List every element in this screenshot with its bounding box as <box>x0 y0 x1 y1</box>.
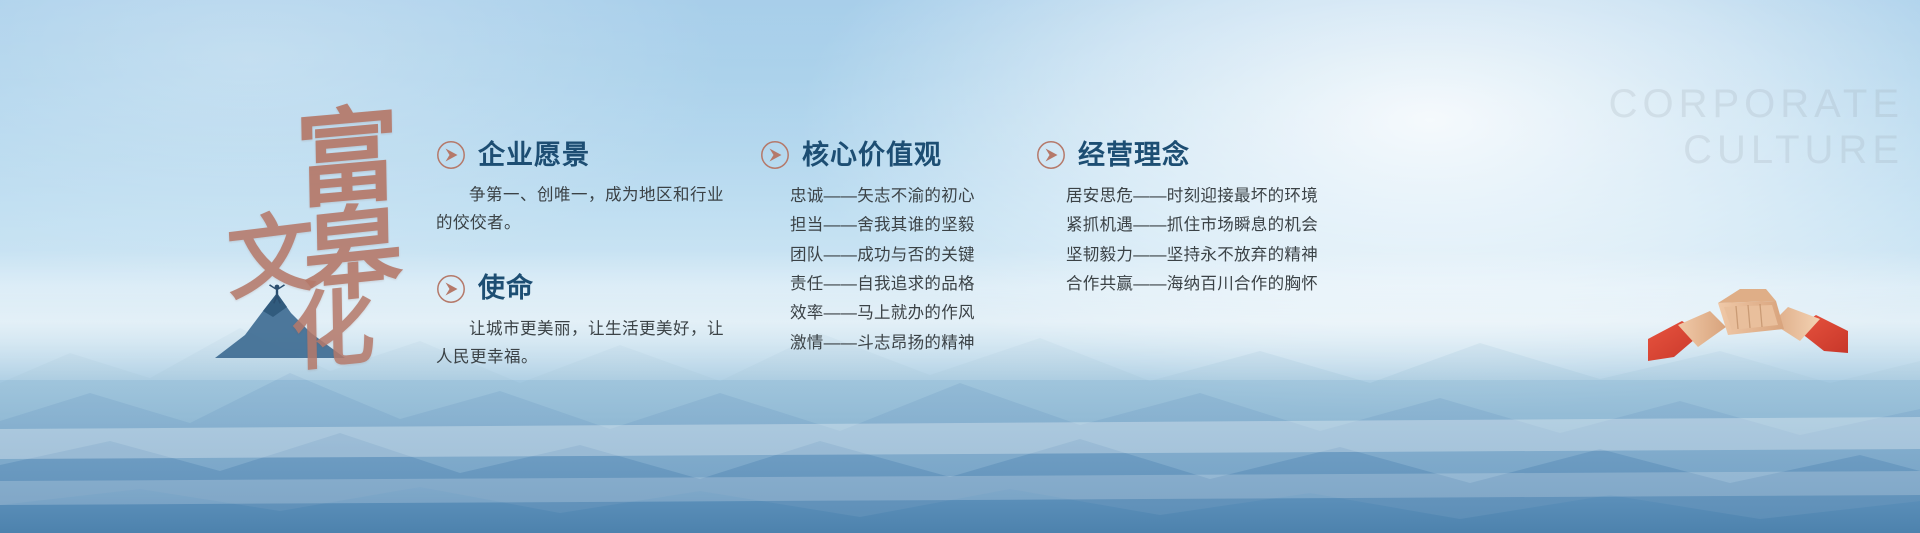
heading-corporate-vision: 企业愿景 <box>436 140 736 170</box>
list-item: 担当——舍我其谁的坚毅 <box>790 211 1030 240</box>
calligraphy-char-4: 化 <box>290 283 375 376</box>
section-title: 企业愿景 <box>478 142 590 169</box>
list-item: 居安思危——时刻迎接最坏的环境 <box>1066 182 1336 211</box>
section-corporate-vision: 企业愿景 争第一、创唯一，成为地区和行业的佼佼者。 <box>436 140 736 238</box>
circled-arrow-icon <box>760 140 790 170</box>
heading-mission: 使命 <box>436 274 736 304</box>
list-item: 责任——自我追求的品格 <box>790 270 1030 299</box>
section-title: 经营理念 <box>1078 142 1190 169</box>
corporate-culture-banner: CORPORATE CULTURE 富 皋 文 化 企业愿景 争第一、创唯一，成… <box>0 0 1920 533</box>
core-values-list: 忠诚——矢志不渝的初心 担当——舍我其谁的坚毅 团队——成功与否的关键 责任——… <box>760 182 1030 358</box>
column-business-philosophy: 经营理念 居安思危——时刻迎接最坏的环境 紧抓机遇——抓住市场瞬息的机会 坚韧毅… <box>1036 140 1336 299</box>
column-vision: 企业愿景 争第一、创唯一，成为地区和行业的佼佼者。 使命 让城市更美丽，让生活更… <box>436 140 736 372</box>
calligraphy-char-3: 文 <box>225 207 317 306</box>
clasped-hands-photo <box>1648 281 1848 371</box>
circled-arrow-icon <box>1036 140 1066 170</box>
section-title: 使命 <box>478 275 534 302</box>
calligraphy-char-2: 皋 <box>302 199 403 310</box>
business-philosophy-list: 居安思危——时刻迎接最坏的环境 紧抓机遇——抓住市场瞬息的机会 坚韧毅力——坚持… <box>1036 182 1336 299</box>
section-paragraph: 让城市更美丽，让生活更美好，让人民更幸福。 <box>436 315 736 372</box>
corporate-culture-watermark: CORPORATE CULTURE <box>1609 84 1904 170</box>
section-core-values: 核心价值观 忠诚——矢志不渝的初心 担当——舍我其谁的坚毅 团队——成功与否的关… <box>760 140 1030 358</box>
list-item: 坚韧毅力——坚持永不放弃的精神 <box>1066 241 1336 270</box>
column-core-values: 核心价值观 忠诚——矢志不渝的初心 担当——舍我其谁的坚毅 团队——成功与否的关… <box>760 140 1030 358</box>
list-item: 忠诚——矢志不渝的初心 <box>790 182 1030 211</box>
circled-arrow-icon <box>436 140 466 170</box>
watermark-line-2: CULTURE <box>1609 130 1904 170</box>
heading-business-philosophy: 经营理念 <box>1036 140 1336 170</box>
watermark-line-1: CORPORATE <box>1609 84 1904 124</box>
list-item: 合作共赢——海纳百川合作的胸怀 <box>1066 270 1336 299</box>
calligraphy-char-1: 富 <box>294 101 399 214</box>
list-item: 激情——斗志昂扬的精神 <box>790 329 1030 358</box>
section-title: 核心价值观 <box>802 142 942 169</box>
list-item: 紧抓机遇——抓住市场瞬息的机会 <box>1066 211 1336 240</box>
circled-arrow-icon <box>436 274 466 304</box>
list-item: 团队——成功与否的关键 <box>790 241 1030 270</box>
section-mission: 使命 让城市更美丽，让生活更美好，让人民更幸福。 <box>436 274 736 372</box>
section-business-philosophy: 经营理念 居安思危——时刻迎接最坏的环境 紧抓机遇——抓住市场瞬息的机会 坚韧毅… <box>1036 140 1336 299</box>
list-item: 效率——马上就办的作风 <box>790 299 1030 328</box>
heading-core-values: 核心价值观 <box>760 140 1030 170</box>
brush-calligraphy-corporate-culture: 富 皋 文 化 <box>243 112 418 317</box>
section-paragraph: 争第一、创唯一，成为地区和行业的佼佼者。 <box>436 181 736 238</box>
person-on-mountain-peak-icon <box>215 283 345 358</box>
